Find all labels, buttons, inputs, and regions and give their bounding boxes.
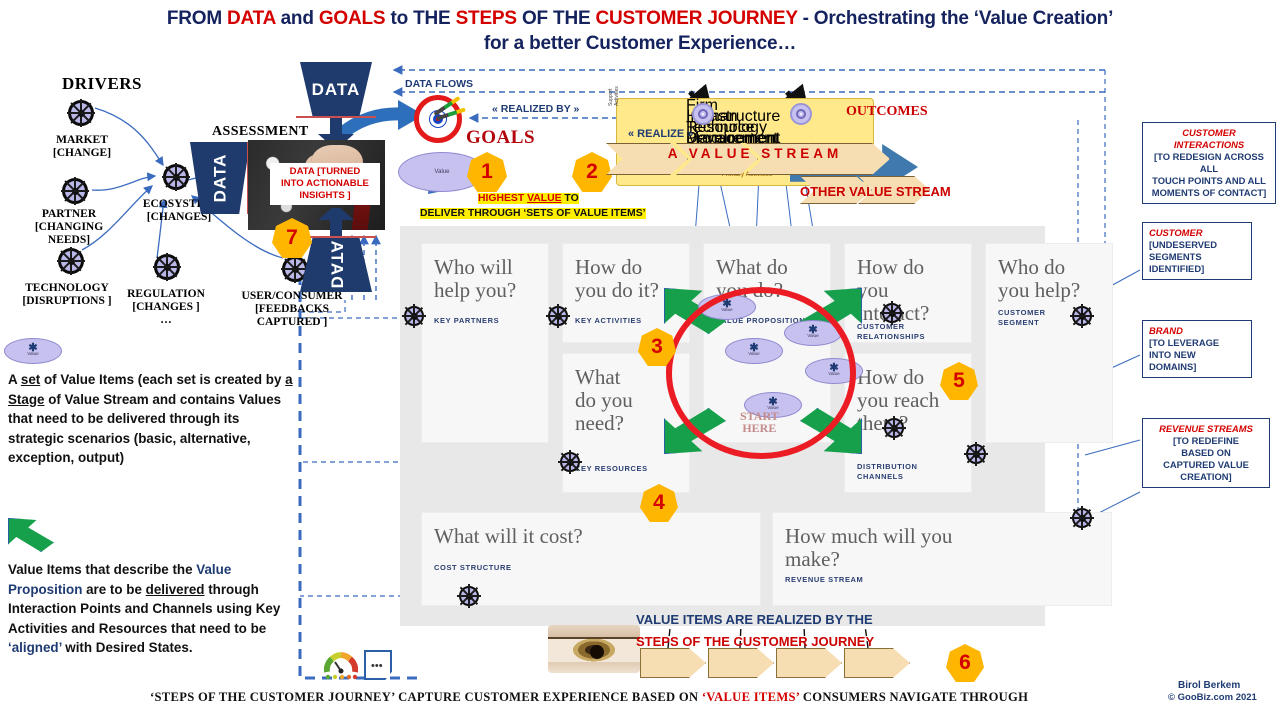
note-body: [UNDESERVED SEGMENTS IDENTIFIED] [1149, 239, 1245, 275]
data-insights-callout: DATA [TURNED INTO ACTIONABLE INSIGHTS ] [270, 163, 380, 205]
hl-line2: DELIVER THROUGH ‘SETS OF VALUE ITEMS’ [420, 208, 646, 219]
value-stream-label: A VALUE STREAM [640, 146, 870, 161]
journey-line-2: STEPS OF THE CUSTOMER JOURNEY [636, 634, 874, 649]
funnel-rule-top [296, 116, 376, 118]
note-heading: CUSTOMER INTERACTIONS [1149, 127, 1269, 151]
compass-icon [62, 178, 88, 204]
marker-6[interactable]: 6 [946, 644, 984, 682]
note-customer-interactions: CUSTOMER INTERACTIONS [TO REDESIGN ACROS… [1142, 122, 1276, 204]
note-brand: BRAND [TO LEVERAGE INTO NEW DOMAINS] [1142, 320, 1252, 378]
legend-underline: set [21, 372, 40, 387]
compass-icon [163, 164, 189, 190]
legend-run: of Value Stream and contains Values that… [8, 392, 281, 466]
footer-highlight: ‘VALUE ITEMS’ [702, 690, 800, 704]
legend-run: with Desired States. [62, 640, 193, 655]
bmc-question: How do you interact? [845, 244, 971, 325]
legend-underline: delivered [146, 582, 205, 597]
compass-icon[interactable] [882, 303, 902, 323]
marker-number: 5 [953, 369, 965, 393]
compass-icon[interactable] [1072, 306, 1092, 326]
note-heading: CUSTOMER [1149, 227, 1245, 239]
title-segment: FROM [167, 8, 227, 29]
bmc-question: What will it cost? [422, 513, 760, 548]
note-icon: ••• [364, 650, 392, 680]
gauge-icon [324, 650, 358, 680]
bmc-subtitle: KEY RESOURCES [575, 464, 648, 474]
author-credit: Birol Berkem [1178, 680, 1240, 691]
value-caption: Value [27, 351, 38, 357]
funnel-stem-bottom [330, 220, 342, 236]
footer-caption: ‘STEPS OF THE CUSTOMER JOURNEY’ CAPTURE … [150, 690, 1280, 705]
legend-value-proposition-text: Value Items that describe the Value Prop… [8, 560, 298, 658]
journey-step-chevron[interactable] [844, 648, 910, 678]
other-value-stream-label: OTHER VALUE STREAM [800, 184, 951, 199]
compass-icon [68, 100, 94, 126]
journey-line-1: VALUE ITEMS ARE REALIZED BY THE [636, 612, 873, 627]
title-segment: OF THE [517, 8, 596, 29]
legend-run: A [8, 372, 21, 387]
legend-run: of Value Items (each set is created by [40, 372, 285, 387]
journey-step-chevron[interactable] [640, 648, 706, 678]
bmc-cell-customer-relationships[interactable]: How do you interact? CUSTOMER RELATIONSH… [844, 243, 972, 343]
bmc-cell-key-partners[interactable]: Who will help you? KEY PARTNERS [421, 243, 549, 443]
footer-post: CONSUMERS NAVIGATE THROUGH [799, 690, 1028, 704]
drivers-heading: DRIVERS [62, 74, 142, 94]
outcomes-label: OUTCOMES [846, 104, 928, 120]
title-segment: to [385, 8, 413, 29]
data-funnel-left: DATA [190, 142, 250, 214]
title-segment: THE [413, 8, 455, 29]
driver-label: PARTNER [CHANGING NEEDS] [4, 208, 134, 247]
funnel-stem-top [330, 118, 342, 134]
bmc-subtitle: KEY PARTNERS [434, 316, 499, 326]
realized-by-label: « REALIZED BY » [492, 103, 579, 115]
compass-icon [154, 254, 180, 280]
note-customer: CUSTOMER [UNDESERVED SEGMENTS IDENTIFIED… [1142, 222, 1252, 280]
highlight-line-2: DELIVER THROUGH ‘SETS OF VALUE ITEMS’ [420, 203, 646, 221]
bmc-subtitle: KEY ACTIVITIES [575, 316, 642, 326]
marker-number: 6 [959, 651, 971, 675]
bmc-cell-customer-segment[interactable]: Who do you help? CUSTOMER SEGMENT [985, 243, 1113, 443]
compass-icon [58, 248, 84, 274]
driver-label: TECHNOLOGY [DISRUPTIONS ] [12, 282, 122, 308]
note-body: [TO REDESIGN ACROSS ALL TOUCH POINTS AND… [1149, 151, 1269, 199]
note-body: [TO LEVERAGE INTO NEW DOMAINS] [1149, 337, 1245, 373]
legend-run: ‘aligned’ [8, 640, 62, 655]
title-segment: DATA [227, 8, 275, 29]
page-title: FROM DATA and GOALS to THE STEPS OF THE … [60, 6, 1220, 56]
data-funnel-top: DATA [300, 62, 372, 118]
marker-number: 4 [653, 491, 665, 515]
bmc-subtitle: COST STRUCTURE [434, 563, 512, 573]
note-body: [TO REDEFINE BASED ON CAPTURED VALUE CRE… [1149, 435, 1263, 483]
title-segment: GOALS [319, 8, 386, 29]
driver-label: REGULATION [CHANGES ] … [112, 288, 220, 327]
driver-label: MARKET [CHANGE] [42, 134, 122, 160]
marker-2[interactable]: 2 [572, 152, 612, 192]
bmc-subtitle: CUSTOMER SEGMENT [998, 308, 1046, 328]
legend-value-ellipse: ✱ Value [4, 338, 62, 364]
journey-step-chevron[interactable] [776, 648, 842, 678]
realize-label: « REALIZE » [628, 128, 693, 140]
eye-image [548, 625, 640, 673]
compass-icon[interactable] [560, 452, 580, 472]
marker-number: 1 [481, 160, 493, 184]
bmc-subtitle: REVENUE STREAM [785, 575, 863, 585]
compass-icon[interactable] [459, 586, 479, 606]
realize-spiral-icon-1 [692, 103, 714, 125]
note-heading: BRAND [1149, 325, 1245, 337]
legend-run: are to be [82, 582, 145, 597]
bmc-question: Who will help you? [422, 244, 548, 302]
legend-green-arrow [8, 518, 54, 552]
start-here-label: START HERE [740, 410, 779, 434]
title-segment: CUSTOMER JOURNEY [596, 8, 798, 29]
funnel-label: DATA [326, 240, 346, 289]
title-segment: - Orchestrating the ‘Value Creation’ [797, 8, 1113, 29]
compass-icon[interactable] [884, 418, 904, 438]
page-subtitle: for a better Customer Experience… [484, 33, 796, 54]
chain-row-procurement: Procurement [686, 133, 808, 144]
journey-step-chevron[interactable] [708, 648, 774, 678]
funnel-label: DATA [312, 80, 361, 100]
copyright-credit: © GooBiz.com 2021 [1168, 692, 1257, 703]
title-segment: STEPS [456, 8, 517, 29]
realize-spiral-icon-2 [790, 103, 812, 125]
funnel-label: DATA [210, 154, 230, 203]
marker-number: 7 [286, 226, 298, 250]
driver-label: USER/CONSUMER [FEEDBACKS CAPTURED ] [230, 290, 354, 329]
data-flows-label: DATA FLOWS [405, 78, 473, 90]
compass-icon[interactable] [404, 306, 424, 326]
title-segment: and [275, 8, 318, 29]
bmc-question: Who do you help? [986, 244, 1112, 302]
assessment-heading: ASSESSMENT [212, 124, 309, 140]
legend-run: Value Items that describe the [8, 562, 196, 577]
value-caption: Value [435, 169, 450, 175]
bmc-subtitle: CUSTOMER RELATIONSHIPS [857, 322, 925, 342]
chain-support-label: Support Activities [608, 92, 620, 106]
marker-number: 3 [651, 335, 663, 359]
bmc-subtitle: DISTRIBUTION CHANNELS [857, 462, 918, 482]
compass-icon[interactable] [966, 444, 986, 464]
footer-pre: ‘STEPS OF THE CUSTOMER JOURNEY’ CAPTURE … [150, 690, 702, 704]
note-heading: REVENUE STREAMS [1149, 423, 1263, 435]
compass-icon[interactable] [1072, 508, 1092, 528]
legend-value-items-text: A set of Value Items (each set is create… [8, 370, 296, 468]
goals-label: GOALS [466, 127, 535, 149]
compass-icon[interactable] [548, 306, 568, 326]
bmc-cell-revenue-stream[interactable]: How much will you make? REVENUE STREAM [772, 512, 1112, 606]
note-revenue-streams: REVENUE STREAMS [TO REDEFINE BASED ON CA… [1142, 418, 1270, 488]
marker-number: 2 [586, 160, 598, 184]
bmc-question: How much will you make? [773, 513, 1111, 571]
